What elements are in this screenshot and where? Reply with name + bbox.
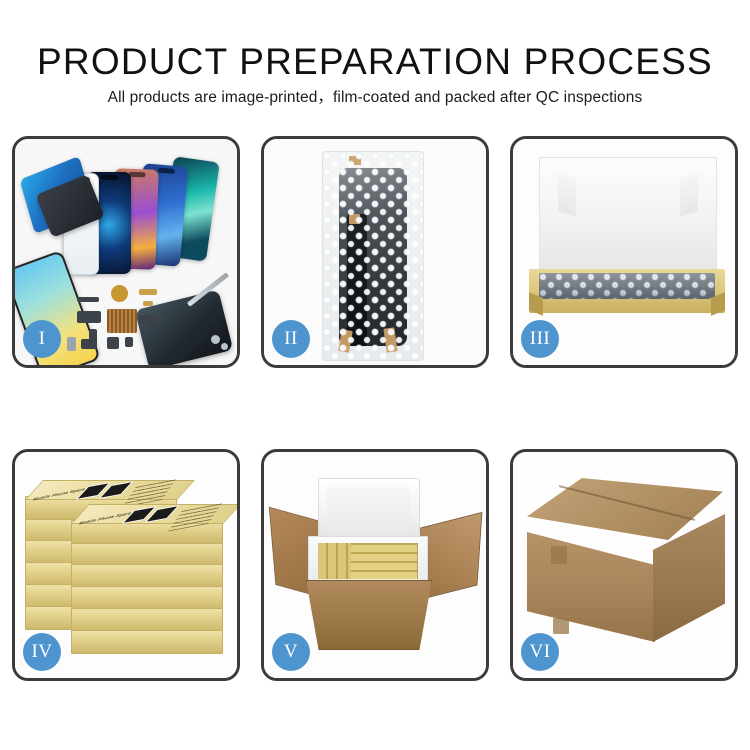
process-step-3[interactable]: III xyxy=(510,136,738,368)
step-badge-2: II xyxy=(272,320,310,358)
foam-lid-inner xyxy=(327,487,411,535)
step-badge-4: IV xyxy=(23,633,61,671)
retail-box xyxy=(71,586,223,610)
page-title: PRODUCT PREPARATION PROCESS xyxy=(0,42,750,82)
lid-flap-right-icon xyxy=(680,173,698,216)
antenna-part-icon xyxy=(77,297,99,302)
carton-front-face-icon xyxy=(527,532,655,642)
logic-board-icon xyxy=(107,309,137,333)
sim-tray-icon xyxy=(125,337,133,347)
phone-notch-icon xyxy=(157,167,174,173)
step-1-image: I xyxy=(15,139,237,365)
foam-box-icon xyxy=(308,536,428,586)
process-step-2[interactable]: II xyxy=(261,136,489,368)
boxed-products-right-icon xyxy=(351,543,417,579)
bubble-texture-icon xyxy=(323,152,423,360)
retail-box-top-front: Mobile Phone Spare Parts xyxy=(71,520,223,544)
carton-tape-icon xyxy=(553,618,569,634)
bubble-wrap-bag-icon xyxy=(322,151,424,361)
step-6-image: VI xyxy=(513,452,735,678)
flex-cable-icon xyxy=(139,289,157,295)
tray-contents-icon xyxy=(539,273,715,299)
page-subtitle: All products are image-printed，film-coat… xyxy=(0,88,750,108)
step-5-image: V xyxy=(264,452,486,678)
process-step-4[interactable]: Mobile Phone Spare Parts Mo xyxy=(12,449,240,681)
speaker-part-icon xyxy=(111,285,128,302)
lid-flap-left-icon xyxy=(558,173,576,216)
small-screen-icon xyxy=(67,337,76,351)
step-badge-1: I xyxy=(23,320,61,358)
step-badge-5: V xyxy=(272,633,310,671)
phone-notch-icon xyxy=(128,172,145,178)
retail-box xyxy=(71,630,223,654)
camera-module-icon xyxy=(107,337,119,349)
step-2-image: II xyxy=(264,139,486,365)
process-step-6[interactable]: VI xyxy=(510,449,738,681)
flex-cable-icon xyxy=(143,301,153,306)
tray-edge-right-icon xyxy=(711,292,725,316)
carton-body-icon xyxy=(306,580,432,650)
bracket-icon xyxy=(81,339,97,349)
step-3-image: III xyxy=(513,139,735,365)
step-badge-6: VI xyxy=(521,633,559,671)
process-steps-grid: I II xyxy=(12,136,738,681)
phone-notch-icon xyxy=(101,175,118,180)
connector-part-icon xyxy=(77,311,101,323)
retail-box xyxy=(71,564,223,588)
step-badge-3: III xyxy=(521,320,559,358)
carton-tape-icon xyxy=(551,546,567,564)
process-step-1[interactable]: I xyxy=(12,136,240,368)
screw-icon xyxy=(221,343,228,350)
screw-icon xyxy=(211,335,220,344)
retail-box xyxy=(71,608,223,632)
process-step-5[interactable]: V xyxy=(261,449,489,681)
retail-box-lid: Mobile Phone Spare Parts xyxy=(71,504,237,524)
kraft-tray-icon xyxy=(529,269,725,313)
bubble-texture-icon xyxy=(539,273,715,299)
retail-box-lid: Mobile Phone Spare Parts xyxy=(25,480,195,500)
page-header: PRODUCT PREPARATION PROCESS All products… xyxy=(0,0,750,128)
retail-box xyxy=(71,542,223,566)
box-lid-icon xyxy=(539,157,717,281)
step-4-image: Mobile Phone Spare Parts Mo xyxy=(15,452,237,678)
ribbon-cable-icon xyxy=(139,315,163,323)
